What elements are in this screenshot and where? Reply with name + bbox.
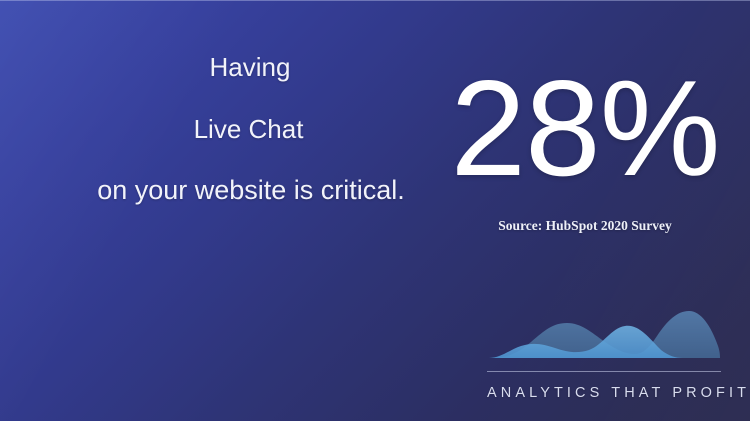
statistic-block: 28% Source: HubSpot 2020 Survey [440, 60, 730, 234]
logo-divider-rule [487, 371, 721, 372]
headline-line-2: Live Chat [0, 114, 500, 144]
statistic-source-citation: Source: HubSpot 2020 Survey [440, 218, 730, 234]
presentation-slide: Having Live Chat on your website is crit… [0, 0, 750, 421]
headline-line-3: on your website is critical. [2, 175, 500, 206]
headline-block: Having Live Chat on your website is crit… [0, 52, 500, 206]
statistic-value: 28% [440, 60, 730, 196]
headline-line-1: Having [0, 52, 500, 82]
logo-wordmark: ANALYTICS THAT PROFIT [487, 385, 723, 402]
brand-logo: ANALYTICS THAT PROFIT [487, 306, 723, 402]
wave-hills-logo-icon [487, 306, 721, 360]
slide-top-edge [0, 0, 750, 1]
